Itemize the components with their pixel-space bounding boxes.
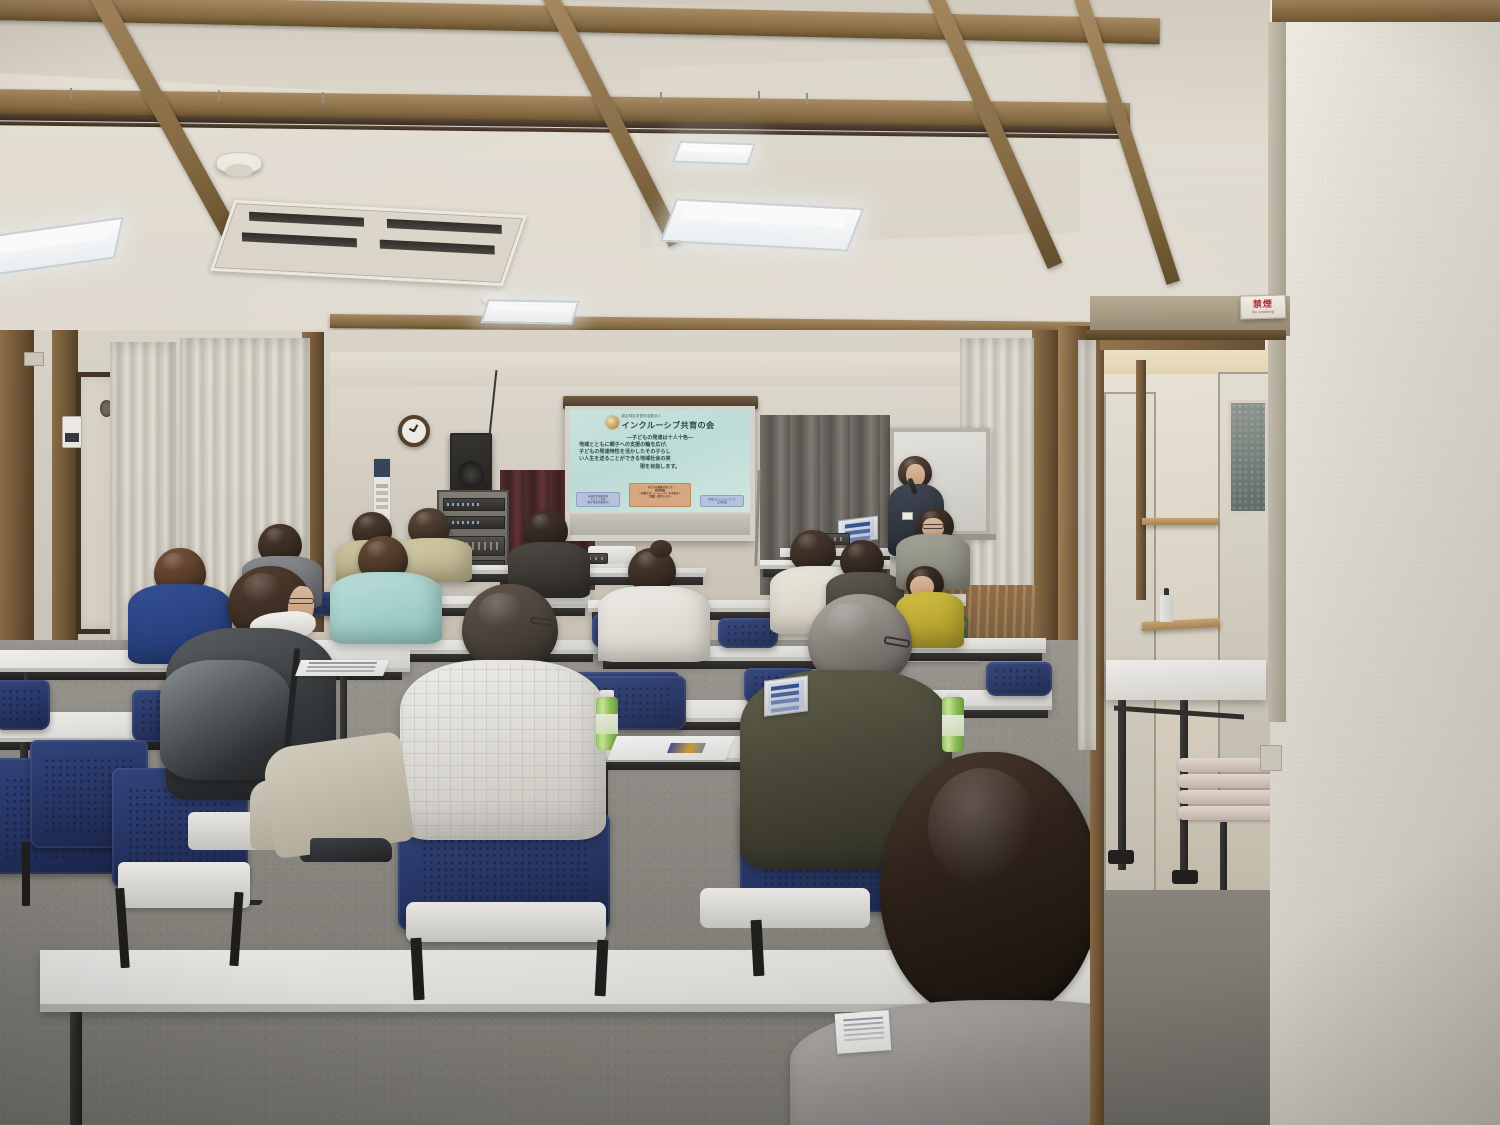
pa-speaker-icon xyxy=(450,433,492,495)
folded-table-leg xyxy=(1118,700,1126,870)
table-leg xyxy=(70,1012,82,1125)
table-caster xyxy=(1108,850,1134,864)
room-wall-right xyxy=(1270,0,1500,1125)
wall-shelf xyxy=(1142,518,1218,525)
slide-callout-boxes: 発達特性理解啓発 セミナー事業 （親子参加型講座等） 子どもの発達子育ての 個別… xyxy=(576,483,744,507)
far-wall-band xyxy=(330,352,1030,386)
slide-title: インクルーシブ共育の会 xyxy=(622,419,715,431)
attendee-laptop[interactable] xyxy=(764,678,808,714)
right-beam-edge xyxy=(1086,330,1286,340)
slide-content: 認定特定非営利活動法人 インクルーシブ共育の会 ―子どもの発達は十人十色― 地域… xyxy=(570,410,750,512)
shirt-check-pattern xyxy=(402,662,604,838)
wall-clock-icon xyxy=(398,415,430,447)
person-foreground-bob xyxy=(880,752,1100,1020)
slide-box-left: 発達特性理解啓発 セミナー事業 （親子参加型講座等） xyxy=(576,492,620,507)
chair-left-3-cover xyxy=(0,860,114,900)
seat-cover-center xyxy=(406,902,606,942)
chair-left-1[interactable] xyxy=(0,680,50,730)
slide-header: 認定特定非営利活動法人 インクルーシブ共育の会 xyxy=(570,415,750,431)
wood-beam-right-top xyxy=(1272,0,1500,22)
adjacent-room-view xyxy=(1090,330,1275,1125)
wall-control-panel[interactable] xyxy=(62,416,82,448)
photo-scene: 認定特定非営利活動法人 インクルーシブ共育の会 ―子どもの発達は十人十色― 地域… xyxy=(0,0,1500,1125)
person-attendee-check xyxy=(462,584,558,670)
chair-leg xyxy=(22,842,30,906)
slide-box-center: 子どもの発達子育ての 個別相談 ―発達サポートトレーナーをお招きし ご相談・助言… xyxy=(629,483,691,507)
ceiling-light-4 xyxy=(480,299,579,324)
seat-cover-center-2 xyxy=(700,888,870,928)
slide-subtitle: ―子どもの発達は十人十色― xyxy=(579,435,741,442)
no-smoking-sign-en: No smoking xyxy=(1252,310,1274,315)
cushion-rack-leg xyxy=(1220,822,1227,892)
torso-attendee-white-bun xyxy=(598,586,710,662)
table-caster xyxy=(1172,870,1198,884)
frosted-glass-panel xyxy=(1228,400,1268,514)
wood-column-right-edge xyxy=(1268,22,1286,722)
wall-outlet[interactable] xyxy=(1260,745,1282,771)
slide-body: ―子どもの発達は十人十色― 地域とともに親子への支援の輪を広げ、 子どもの発達特… xyxy=(579,435,741,471)
glasses-icon xyxy=(288,598,314,604)
no-smoking-sign: 禁煙 No smoking xyxy=(1240,294,1287,319)
name-badge xyxy=(902,512,913,520)
tea-bottle-2[interactable] xyxy=(940,690,966,752)
shoe-attendee-check xyxy=(310,838,392,862)
partition-right-inner[interactable] xyxy=(1078,340,1096,750)
hand-sanitizer[interactable] xyxy=(1160,588,1173,622)
adjacent-room-floor xyxy=(1104,890,1275,1125)
ceiling-light-1 xyxy=(0,217,124,280)
chair-far-7[interactable] xyxy=(986,662,1052,696)
ceiling-light-3 xyxy=(672,141,756,165)
screen-lower-blank xyxy=(570,514,750,535)
handout-2[interactable] xyxy=(295,660,389,676)
hair-bun-icon xyxy=(650,540,672,558)
folded-table-top xyxy=(1106,660,1266,700)
torso-attendee-mint xyxy=(330,572,442,644)
inner-door-jamb xyxy=(1136,360,1146,600)
program-sheet-foreground[interactable] xyxy=(835,1010,892,1054)
slide-body-line-4: 現を目指します。 xyxy=(579,464,741,471)
projection-screen: 認定特定非営利活動法人 インクルーシブ共育の会 ―子どもの発達は十人十色― 地域… xyxy=(565,406,755,541)
wall-plate xyxy=(24,352,44,366)
ac-unit-icon xyxy=(210,200,527,286)
no-smoking-sign-jp: 禁煙 xyxy=(1253,300,1273,310)
slide-box-right: 地域コミュニティづくり 交流事業 xyxy=(700,495,744,507)
handout-1[interactable] xyxy=(607,736,735,760)
wall-poster xyxy=(373,458,391,520)
seat-cover-left-1 xyxy=(118,862,250,908)
slide-body-line-3: い人生を送ることができる地域社会の実 xyxy=(579,456,741,463)
glasses-helper-icon xyxy=(922,524,944,529)
chair-far-2[interactable] xyxy=(718,618,778,648)
org-logo-icon xyxy=(606,416,619,429)
smoke-detector-icon xyxy=(216,152,262,174)
